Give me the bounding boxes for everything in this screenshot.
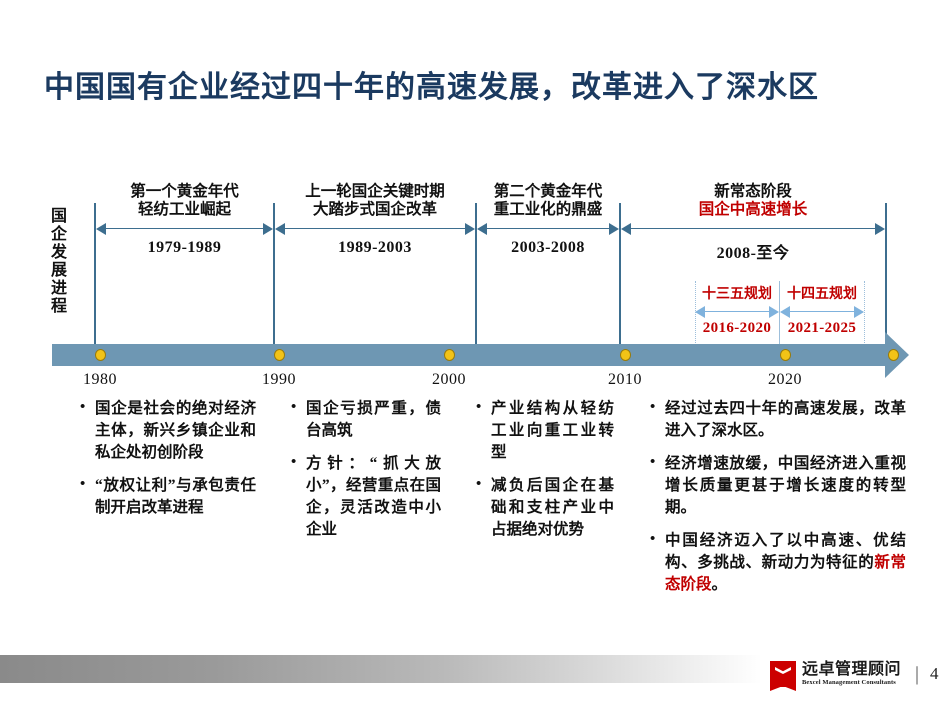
timeline-year-label: 1990 xyxy=(249,371,309,389)
subperiod-title: 十四五规划 xyxy=(780,283,864,303)
timeline-year-label: 2020 xyxy=(755,371,815,389)
list-item: 中国经济迈入了以中高速、优结构、多挑战、新动力为特征的新常态阶段。 xyxy=(648,530,906,596)
arrow-line xyxy=(105,228,264,230)
period-years: 1989-2003 xyxy=(275,239,475,257)
bullet-column-1: 国企是社会的绝对经济主体，新兴乡镇企业和私企处初创阶段 “放权让利”与承包责任制… xyxy=(78,398,256,530)
list-item: 国企亏损严重，债台高筑 xyxy=(289,398,441,442)
period-title: 新常态阶段 国企中高速增长 xyxy=(621,183,885,220)
logo-name-en: Bexcel Management Consultants xyxy=(802,680,901,687)
arrow-right-head-icon xyxy=(465,223,475,235)
period-title-line2: 重工业化的鼎盛 xyxy=(477,201,619,219)
bullet-list: 国企亏损严重，债台高筑 方针：“抓大放小”，经营重点在国企，灵活改造中小企业 xyxy=(289,398,441,541)
footer-logo: 远卓管理顾问 Bexcel Management Consultants | 4 xyxy=(770,661,939,687)
timeline-bar xyxy=(52,344,887,366)
bullet-list: 经过过去四十年的高速发展，改革进入了深水区。 经济增速放缓，中国经济进入重视增长… xyxy=(648,398,906,596)
period-title-line2: 轻纺工业崛起 xyxy=(96,201,273,219)
subperiod-title: 十三五规划 xyxy=(695,283,779,303)
period-title: 上一轮国企关键时期 大踏步式国企改革 xyxy=(275,183,475,220)
period-title-line1: 新常态阶段 xyxy=(621,183,885,201)
page-separator: | xyxy=(915,663,919,686)
period-title-line2: 国企中高速增长 xyxy=(621,201,885,219)
timeline-year-label: 2000 xyxy=(419,371,479,389)
subperiod-block-1: 十三五规划 2016-2020 xyxy=(695,283,779,337)
list-item: 产业结构从轻纺工业向重工业转型 xyxy=(474,398,614,464)
list-item-text: 中国经济迈入了以中高速、优结构、多挑战、新动力为特征的 xyxy=(665,532,906,571)
list-item: 经济增速放缓，中国经济进入重视增长质量更甚于增长速度的转型期。 xyxy=(648,453,906,519)
logo-text-block: 远卓管理顾问 Bexcel Management Consultants xyxy=(802,662,901,687)
arrow-line xyxy=(704,311,770,312)
timeline-axis-label: 国 企 发 展 进 程 xyxy=(48,208,70,315)
period-title-line1: 第一个黄金年代 xyxy=(96,183,273,201)
subperiod-years: 2021-2025 xyxy=(780,320,864,337)
period-years: 2003-2008 xyxy=(477,239,619,257)
bullet-list: 产业结构从轻纺工业向重工业转型 减负后国企在基础和支柱产业中占据绝对优势 xyxy=(474,398,614,541)
arrow-right-head-icon xyxy=(875,223,885,235)
arrow-right-head-icon xyxy=(263,223,273,235)
timeline-year-label: 2010 xyxy=(595,371,655,389)
arrow-right-head-icon xyxy=(609,223,619,235)
subperiod-arrow xyxy=(780,305,864,318)
period-arrow xyxy=(275,222,475,235)
axis-label-char: 企 xyxy=(48,226,70,244)
logo-name-cn: 远卓管理顾问 xyxy=(802,662,901,678)
period-arrow xyxy=(477,222,619,235)
bullet-list: 国企是社会的绝对经济主体，新兴乡镇企业和私企处初创阶段 “放权让利”与承包责任制… xyxy=(78,398,256,519)
period-block-1: 第一个黄金年代 轻纺工业崛起 1979-1989 xyxy=(96,183,273,257)
arrow-line xyxy=(284,228,466,230)
period-block-4: 新常态阶段 国企中高速增长 2008-至今 xyxy=(621,183,885,263)
axis-label-char: 国 xyxy=(48,208,70,226)
list-item: 国企是社会的绝对经济主体，新兴乡镇企业和私企处初创阶段 xyxy=(78,398,256,464)
timeline-dot-1980 xyxy=(95,349,106,361)
arrow-right-head-icon xyxy=(769,306,779,318)
axis-label-char: 展 xyxy=(48,262,70,280)
period-title-line2: 大踏步式国企改革 xyxy=(275,201,475,219)
axis-label-char: 进 xyxy=(48,280,70,298)
bullet-column-3: 产业结构从轻纺工业向重工业转型 减负后国企在基础和支柱产业中占据绝对优势 xyxy=(474,398,614,552)
timeline-dot-2010 xyxy=(620,349,631,361)
period-arrow xyxy=(96,222,273,235)
axis-label-char: 发 xyxy=(48,244,70,262)
timeline-dot-1990 xyxy=(274,349,285,361)
subperiod-block-2: 十四五规划 2021-2025 xyxy=(780,283,864,337)
list-item: 方针：“抓大放小”，经营重点在国企，灵活改造中小企业 xyxy=(289,453,441,541)
list-item: “放权让利”与承包责任制开启改革进程 xyxy=(78,475,256,519)
period-title-line1: 第二个黄金年代 xyxy=(477,183,619,201)
period-block-2: 上一轮国企关键时期 大踏步式国企改革 1989-2003 xyxy=(275,183,475,257)
period-block-3: 第二个黄金年代 重工业化的鼎盛 2003-2008 xyxy=(477,183,619,257)
timeline-dot-2000 xyxy=(444,349,455,361)
period-years: 2008-至今 xyxy=(621,239,885,263)
subperiod-years: 2016-2020 xyxy=(695,320,779,337)
page-number: 4 xyxy=(930,664,939,684)
period-title: 第二个黄金年代 重工业化的鼎盛 xyxy=(477,183,619,220)
bullet-column-2: 国企亏损严重，债台高筑 方针：“抓大放小”，经营重点在国企，灵活改造中小企业 xyxy=(289,398,441,552)
period-years: 1979-1989 xyxy=(96,239,273,257)
period-title: 第一个黄金年代 轻纺工业崛起 xyxy=(96,183,273,220)
timeline-year-label: 1980 xyxy=(70,371,130,389)
list-item: 经过过去四十年的高速发展，改革进入了深水区。 xyxy=(648,398,906,442)
footer-gradient-bar xyxy=(0,655,762,683)
timeline-dot-2020 xyxy=(780,349,791,361)
arrow-line xyxy=(630,228,876,230)
subperiod-arrow xyxy=(695,305,779,318)
arrow-line xyxy=(486,228,610,230)
period-arrow xyxy=(621,222,885,235)
arrow-line xyxy=(789,311,855,312)
list-item-text: 。 xyxy=(712,576,728,593)
list-item: 减负后国企在基础和支柱产业中占据绝对优势 xyxy=(474,475,614,541)
bullet-column-4: 经过过去四十年的高速发展，改革进入了深水区。 经济增速放缓，中国经济进入重视增长… xyxy=(648,398,906,607)
axis-label-char: 程 xyxy=(48,298,70,316)
arrow-right-head-icon xyxy=(854,306,864,318)
period-title-line1: 上一轮国企关键时期 xyxy=(275,183,475,201)
company-logo-icon xyxy=(770,661,796,687)
timeline-dot-end xyxy=(888,349,899,361)
